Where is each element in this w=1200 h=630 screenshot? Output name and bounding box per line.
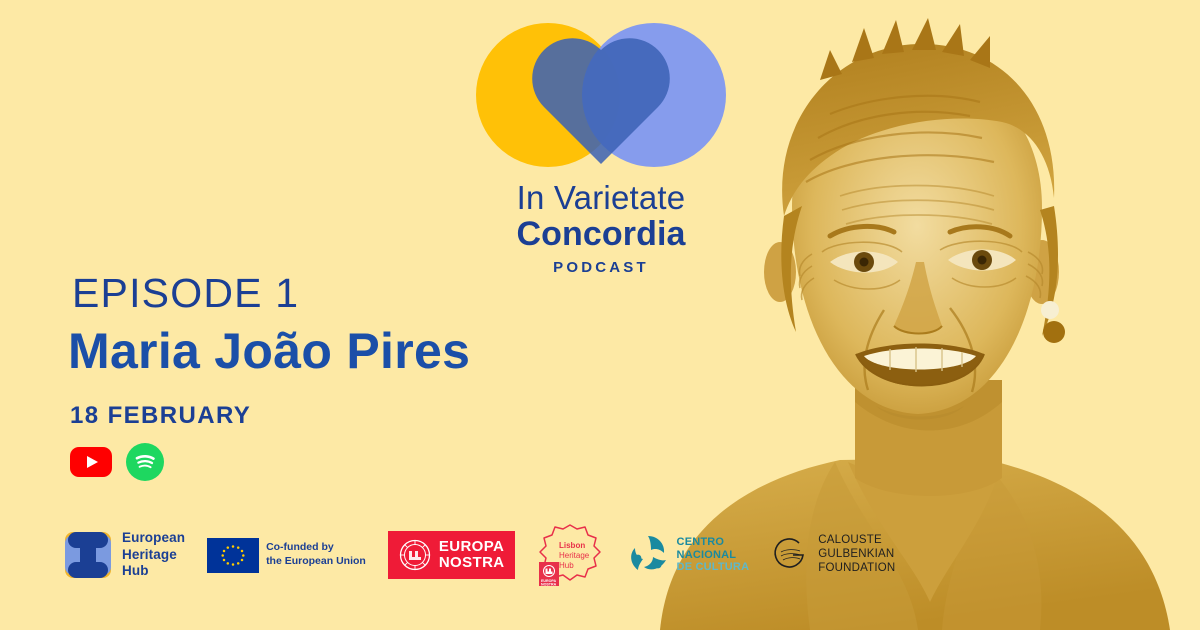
european-heritage-hub-label: European Heritage Hub — [122, 530, 185, 579]
spotify-icon[interactable] — [126, 443, 164, 481]
partner-centro-nacional-de-cultura[interactable]: CENTRO NACIONAL DE CULTURA — [625, 522, 750, 588]
partner-european-union[interactable]: Co-funded by the European Union — [207, 522, 366, 588]
lhh-line-2: Heritage — [559, 551, 590, 560]
logo-subtitle-podcast: PODCAST — [468, 259, 734, 276]
cnc-line-3: DE CULTURA — [677, 561, 750, 574]
calouste-gulbenkian-icon — [771, 535, 811, 575]
en-line-1: EUROPA — [439, 539, 505, 555]
eu-flag-icon — [207, 538, 259, 573]
cg-line-1: CALOUSTE — [818, 534, 895, 548]
youtube-play-triangle — [87, 456, 98, 468]
partner-europa-nostra[interactable]: EUROPA NOSTRA — [388, 522, 515, 588]
social-links — [70, 443, 164, 481]
in-varietate-concordia-logo-mark — [468, 14, 734, 179]
spotify-waves-icon — [132, 449, 158, 475]
europa-nostra-box: EUROPA NOSTRA — [388, 531, 515, 579]
cnc-line-2: NACIONAL — [677, 549, 750, 562]
en-line-2: NOSTRA — [439, 555, 505, 571]
european-union-label: Co-funded by the European Union — [266, 541, 366, 568]
ehh-line-3: Hub — [122, 563, 185, 579]
europa-nostra-label: EUROPA NOSTRA — [439, 539, 505, 571]
ehh-line-1: European — [122, 530, 185, 546]
european-heritage-hub-icon — [62, 529, 114, 581]
partner-calouste-gulbenkian-foundation[interactable]: CALOUSTE GULBENKIAN FOUNDATION — [771, 522, 895, 588]
podcast-logo: In Varietate Concordia PODCAST — [468, 14, 734, 276]
ehh-line-2: Heritage — [122, 547, 185, 563]
cnc-line-1: CENTRO — [677, 536, 750, 549]
episode-number-label: EPISODE 1 — [72, 270, 299, 317]
logo-title-line-2: Concordia — [468, 215, 734, 253]
lisbon-heritage-hub-icon: Lisbon Heritage Hub EUROPA NOSTRA — [537, 522, 603, 588]
air-date: 18 FEBRUARY — [70, 402, 251, 430]
partner-lisbon-heritage-hub[interactable]: Lisbon Heritage Hub EUROPA NOSTRA — [537, 522, 603, 588]
guest-name: Maria João Pires — [68, 322, 470, 380]
calouste-gulbenkian-label: CALOUSTE GULBENKIAN FOUNDATION — [818, 534, 895, 575]
lhh-line-3: Hub — [559, 561, 574, 570]
partner-logo-row: European Heritage Hub — [62, 522, 895, 588]
centro-nacional-de-cultura-label: CENTRO NACIONAL DE CULTURA — [677, 536, 750, 575]
youtube-icon[interactable] — [70, 447, 112, 477]
europa-nostra-emblem-icon — [398, 538, 432, 572]
lhh-line-1: Lisbon — [559, 541, 585, 550]
eu-line-1: Co-funded by — [266, 541, 366, 555]
svg-text:NOSTRA: NOSTRA — [541, 582, 557, 586]
cg-line-3: FOUNDATION — [818, 562, 895, 576]
cg-line-2: GULBENKIAN — [818, 548, 895, 562]
partner-european-heritage-hub[interactable]: European Heritage Hub — [62, 522, 185, 588]
logo-title-line-1: In Varietate — [468, 181, 734, 215]
eu-line-2: the European Union — [266, 555, 366, 569]
centro-nacional-de-cultura-icon — [625, 532, 671, 578]
